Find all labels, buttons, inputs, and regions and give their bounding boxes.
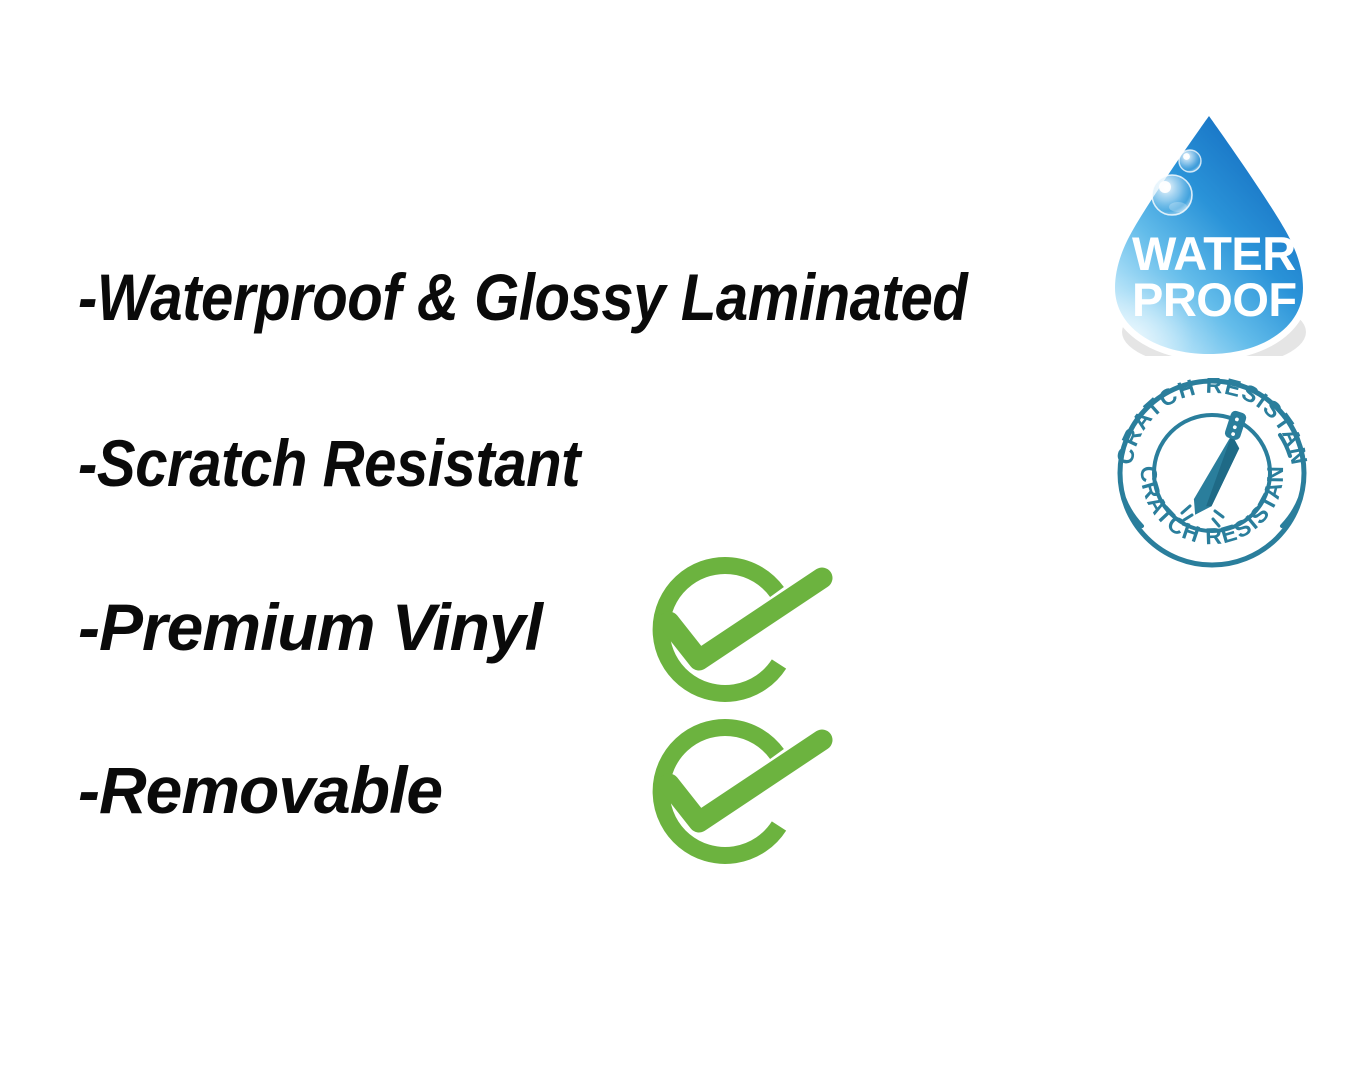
check-stroke xyxy=(669,578,822,660)
water-drop-icon: WATER PROOF xyxy=(1098,104,1320,356)
feature-item-removable: -Removable xyxy=(78,757,442,823)
check-circle-icon xyxy=(640,718,836,870)
knife-stamp-icon: SCRATCH RESISTANT SCRATCH RESISTANT xyxy=(1112,378,1312,568)
waterproof-badge: WATER PROOF xyxy=(1098,104,1320,356)
checkmark-premium-vinyl xyxy=(640,556,836,708)
check-stroke xyxy=(669,740,822,822)
feature-item-premium-vinyl: -Premium Vinyl xyxy=(78,594,542,660)
waterproof-line2: PROOF xyxy=(1132,273,1297,326)
check-circle-icon xyxy=(640,556,836,708)
stamp-text-top: SCRATCH RESISTANT xyxy=(1112,378,1312,468)
feature-item-waterproof-glossy-laminated: -Waterproof & Glossy Laminated xyxy=(78,264,967,330)
feature-item-scratch-resistant: -Scratch Resistant xyxy=(78,430,580,496)
checkmark-removable xyxy=(640,718,836,870)
knife-icon xyxy=(1189,408,1252,521)
scratch-resistant-badge: SCRATCH RESISTANT SCRATCH RESISTANT xyxy=(1112,378,1312,568)
product-features-graphic: -Waterproof & Glossy Laminated -Scratch … xyxy=(0,0,1359,1080)
